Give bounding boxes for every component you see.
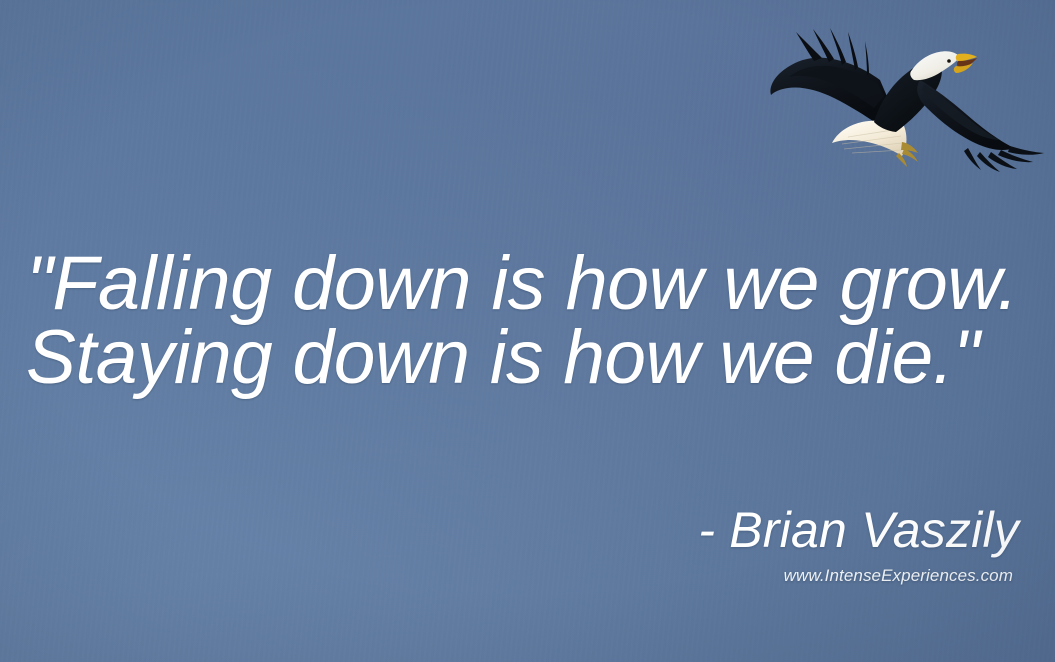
quote-line-1: "Falling down is how we grow. bbox=[26, 247, 1026, 321]
quote-line-2: Staying down is how we die." bbox=[26, 321, 1016, 395]
website-url: www.IntenseExperiences.com bbox=[698, 566, 1013, 586]
attribution-block: - Brian Vaszily www.IntenseExperiences.c… bbox=[698, 503, 1019, 586]
eagle-head bbox=[910, 51, 977, 80]
author-name: - Brian Vaszily bbox=[698, 503, 1019, 557]
quote-poster: "Falling down is how we grow. Staying do… bbox=[0, 0, 1055, 662]
eagle-left-wing bbox=[770, 28, 892, 123]
eagle-eye bbox=[947, 59, 951, 63]
eagle-right-wing bbox=[917, 80, 1044, 172]
quote-text: "Falling down is how we grow. Staying do… bbox=[26, 247, 1031, 395]
bald-eagle-photo bbox=[752, 22, 1047, 177]
